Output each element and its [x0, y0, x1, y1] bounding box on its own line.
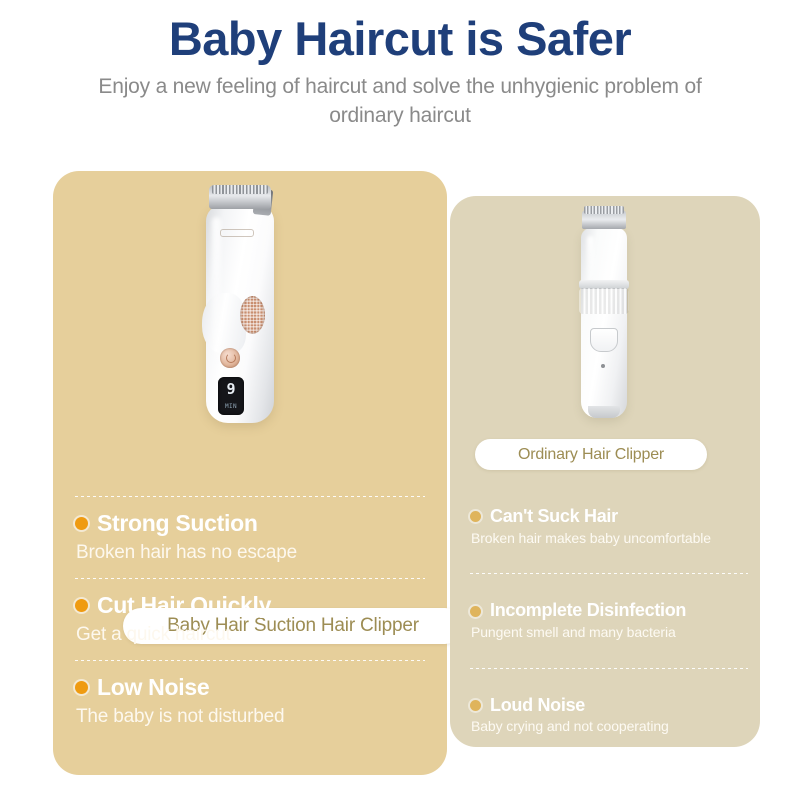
feature-desc: Baby crying and not cooperating — [471, 718, 748, 736]
clipper-highlight — [212, 217, 221, 367]
baby-clipper-illustration: 9 MIN — [196, 185, 288, 423]
bullet-icon — [75, 517, 88, 530]
suction-vent-icon — [240, 296, 265, 334]
feature-title: Incomplete Disinfection — [490, 601, 686, 621]
bullet-icon — [75, 599, 88, 612]
feature-desc: Broken hair has no escape — [76, 541, 425, 565]
feature-list-baby-clipper: Strong Suction Broken hair has no escape… — [75, 496, 425, 742]
display-value: 9 — [218, 382, 244, 397]
feature-heading: Incomplete Disinfection — [470, 601, 748, 621]
feature-title: Strong Suction — [97, 511, 258, 536]
panel-baby-clipper: 9 MIN Baby Hair Suction Hair Clipper Str… — [53, 171, 447, 775]
feature-title: Cut Hair Quickly — [97, 593, 271, 618]
feature-item: Loud Noise Baby crying and not cooperati… — [470, 685, 748, 746]
bullet-icon — [470, 606, 481, 617]
feature-title: Can't Suck Hair — [490, 507, 618, 527]
divider — [470, 668, 748, 669]
bullet-icon — [75, 681, 88, 694]
feature-desc: Pungent smell and many bacteria — [471, 624, 748, 642]
feature-item: Strong Suction Broken hair has no escape — [75, 497, 425, 578]
feature-heading: Loud Noise — [470, 696, 748, 716]
ordinary-clipper-illustration — [567, 206, 643, 418]
bullet-icon — [470, 511, 481, 522]
led-indicator-icon — [601, 364, 605, 368]
feature-title: Loud Noise — [490, 696, 585, 716]
clipper-base — [588, 406, 620, 418]
clipper-teeth — [212, 185, 268, 194]
feature-heading: Strong Suction — [75, 511, 425, 536]
feature-desc: Broken hair makes baby uncomfortable — [471, 530, 748, 548]
page-header: Baby Haircut is Safer Enjoy a new feelin… — [0, 0, 800, 131]
feature-item: Low Noise The baby is not disturbed — [75, 661, 425, 742]
feature-desc: Get a quick haircut — [76, 623, 425, 647]
clipper-brand-mark — [220, 229, 254, 237]
page-subtitle: Enjoy a new feeling of haircut and solve… — [80, 73, 720, 131]
display-unit: MIN — [218, 403, 244, 410]
bullet-icon — [470, 700, 481, 711]
clipper-teeth — [584, 206, 624, 214]
feature-title: Low Noise — [97, 675, 209, 700]
label-ordinary-clipper-text: Ordinary Hair Clipper — [518, 446, 664, 464]
feature-item: Can't Suck Hair Broken hair makes baby u… — [470, 496, 748, 557]
feature-heading: Cut Hair Quickly — [75, 593, 425, 618]
page-title: Baby Haircut is Safer — [0, 14, 800, 63]
clipper-adjust-ring — [579, 288, 629, 314]
product-image-baby-clipper: 9 MIN — [53, 171, 447, 426]
product-image-ordinary-clipper — [450, 196, 760, 426]
clipper-highlight — [587, 236, 594, 284]
power-button-icon — [590, 328, 618, 352]
feature-item: Incomplete Disinfection Pungent smell an… — [470, 590, 748, 651]
label-ordinary-clipper: Ordinary Hair Clipper — [475, 439, 707, 470]
clipper-grip — [202, 293, 246, 353]
feature-list-ordinary-clipper: Can't Suck Hair Broken hair makes baby u… — [470, 496, 748, 746]
panel-ordinary-clipper: Ordinary Hair Clipper Can't Suck Hair Br… — [450, 196, 760, 747]
feature-desc: The baby is not disturbed — [76, 705, 425, 729]
divider — [470, 573, 748, 574]
clipper-display: 9 MIN — [218, 377, 244, 415]
power-button-icon — [220, 348, 240, 368]
feature-heading: Low Noise — [75, 675, 425, 700]
feature-heading: Can't Suck Hair — [470, 507, 748, 527]
feature-item: Cut Hair Quickly Get a quick haircut — [75, 579, 425, 660]
